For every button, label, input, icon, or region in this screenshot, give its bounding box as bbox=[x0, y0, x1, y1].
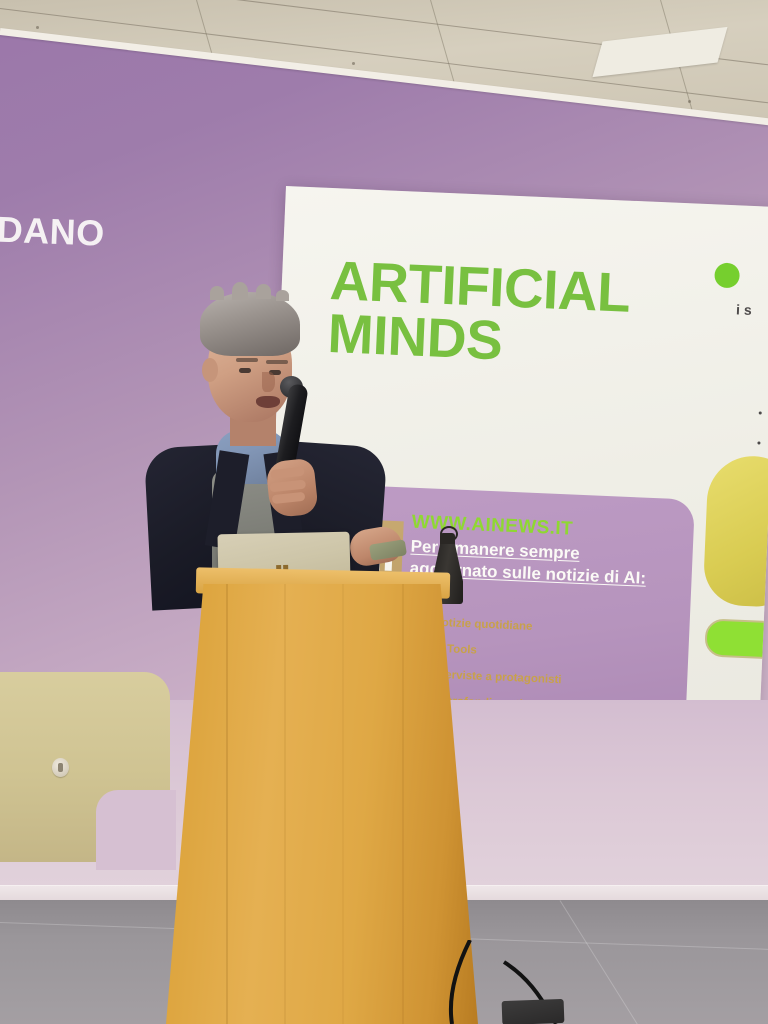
green-pill-shape bbox=[704, 618, 768, 660]
photo-scene: DITO PADANO O BCC ICCREA ARTIFICIAL MIND… bbox=[0, 0, 768, 1024]
power-outlet-icon bbox=[52, 758, 69, 777]
panel-notch bbox=[96, 790, 176, 870]
nose bbox=[262, 372, 275, 392]
floor-cables bbox=[0, 940, 768, 1024]
yellow-shape bbox=[703, 454, 768, 608]
ceiling-light-panel bbox=[592, 27, 727, 77]
eyebrow bbox=[236, 358, 258, 362]
eye bbox=[239, 368, 251, 373]
hair bbox=[200, 292, 300, 356]
ear bbox=[202, 358, 218, 382]
power-brick bbox=[502, 999, 565, 1024]
eyebrow bbox=[266, 360, 288, 364]
mouth bbox=[256, 396, 280, 408]
